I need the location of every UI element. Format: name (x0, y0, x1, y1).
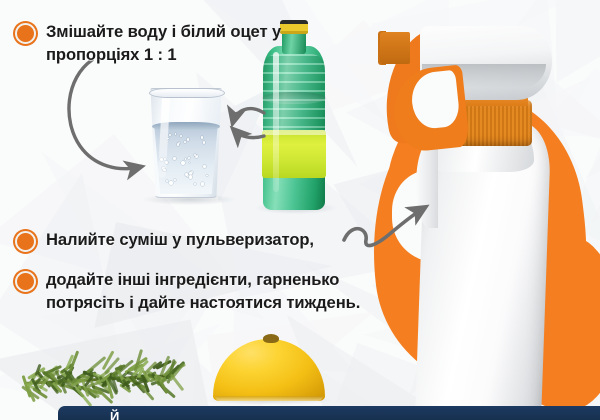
infographic-canvas: Змішайте воду і білий оцет у пропорціях … (0, 0, 600, 420)
orange-bullet-icon (15, 271, 36, 292)
list-item: Змішайте воду і білий оцет у пропорціях … (15, 20, 316, 66)
footer-bar: Й (58, 406, 600, 420)
orange-bullet-icon (15, 231, 36, 252)
lemon-half (213, 337, 325, 401)
rosemary-needle (170, 373, 184, 390)
step-text: Змішайте воду і білий оцет у пропорціях … (46, 20, 316, 66)
orange-bullet-icon (15, 23, 36, 44)
lemon-cut-face (215, 396, 323, 401)
list-item: Налийте суміш у пульверизатор, (15, 228, 314, 252)
step-text: Налийте суміш у пульверизатор, (46, 228, 314, 251)
lemon-dome (213, 339, 325, 401)
footer-text: Й (110, 409, 119, 420)
instruction-list: Змішайте воду і білий оцет у пропорціях … (0, 0, 420, 340)
step-text: додайте інші інгредієнти, гарненько потр… (46, 268, 401, 314)
list-item: додайте інші інгредієнти, гарненько потр… (15, 268, 401, 314)
rosemary-sprig (10, 352, 190, 402)
